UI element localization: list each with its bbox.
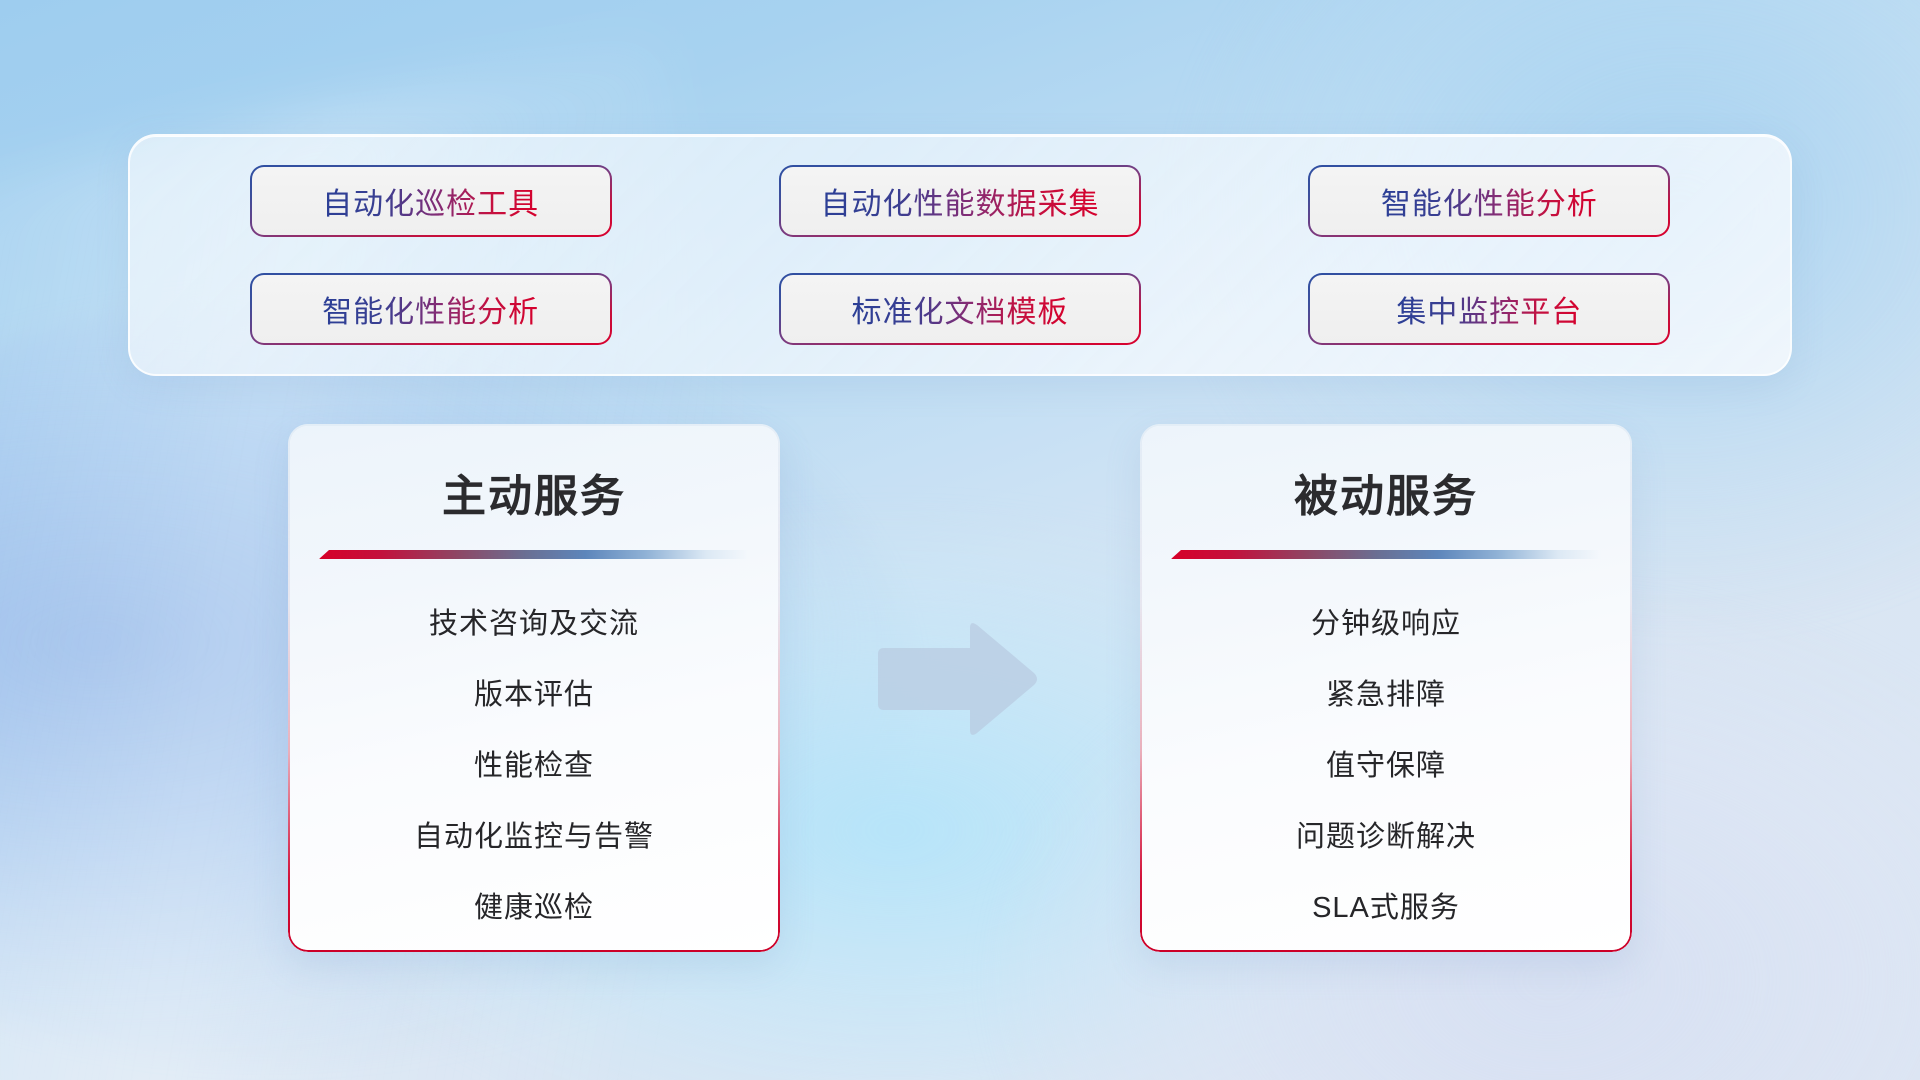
capability-tag-4[interactable]: 智能化性能分析 [252,275,610,343]
capability-tags-panel: 自动化巡检工具 自动化性能数据采集 智能化性能分析 智能化性能分析 标准化文档模… [128,134,1792,376]
capability-tag-1[interactable]: 自动化巡检工具 [252,167,610,235]
service-item: SLA式服务 [1140,873,1632,944]
service-card-reactive: 被动服务 分钟级响应 紧急排障 值守保障 问题诊断解决 SLA式服务 [1140,424,1632,952]
capability-tag-5[interactable]: 标准化文档模板 [781,275,1139,343]
service-item-list: 分钟级响应 紧急排障 值守保障 问题诊断解决 SLA式服务 [1140,589,1632,944]
capability-tag-label: 集中监控平台 [1396,287,1582,331]
service-card-proactive: 主动服务 技术咨询及交流 版本评估 性能检查 自动化监控与告警 健康巡检 [288,424,780,952]
service-item: 值守保障 [1140,731,1632,802]
service-item: 分钟级响应 [1140,589,1632,660]
service-item: 健康巡检 [288,873,780,944]
capability-tag-2[interactable]: 自动化性能数据采集 [781,167,1139,235]
capability-tag-label: 标准化文档模板 [851,287,1068,331]
service-item: 紧急排障 [1140,660,1632,731]
capability-tag-label: 自动化性能数据采集 [820,179,1099,223]
capability-tag-3[interactable]: 智能化性能分析 [1310,167,1668,235]
card-divider [319,550,749,559]
service-item: 自动化监控与告警 [288,802,780,873]
capability-tag-label: 自动化巡检工具 [322,179,539,223]
service-item-list: 技术咨询及交流 版本评估 性能检查 自动化监控与告警 健康巡检 [288,589,780,944]
card-title: 主动服务 [288,460,780,524]
card-title: 被动服务 [1140,460,1632,524]
service-item: 版本评估 [288,660,780,731]
service-item: 问题诊断解决 [1140,802,1632,873]
capability-tag-label: 智能化性能分析 [322,287,539,331]
capability-tag-label: 智能化性能分析 [1381,179,1598,223]
right-arrow-icon [874,620,1040,738]
capability-tag-6[interactable]: 集中监控平台 [1310,275,1668,343]
service-item: 性能检查 [288,731,780,802]
card-divider [1171,550,1601,559]
service-item: 技术咨询及交流 [288,589,780,660]
